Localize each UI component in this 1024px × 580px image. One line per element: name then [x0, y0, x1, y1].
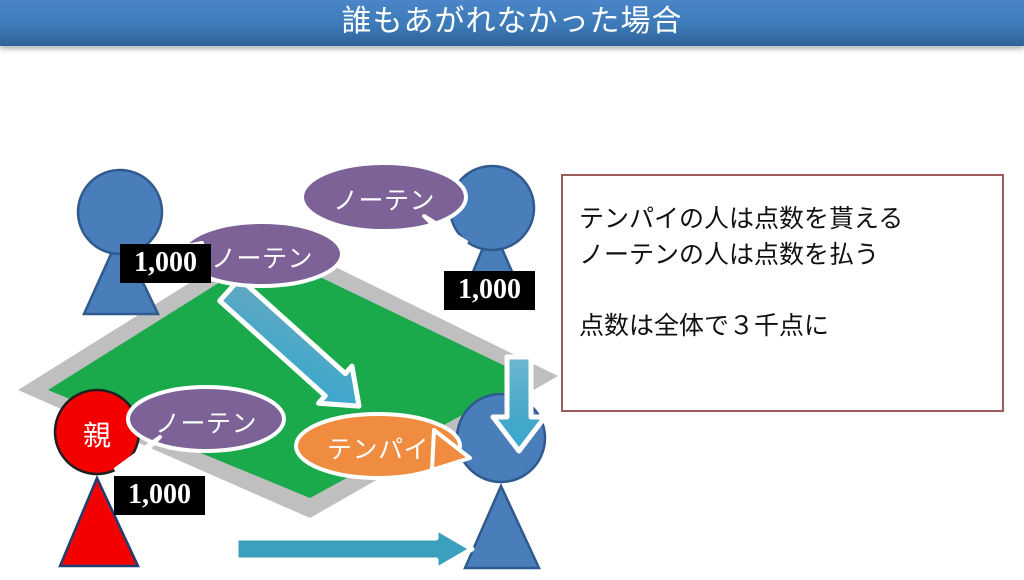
bubble-tail	[116, 437, 160, 469]
arrow-horizontal	[230, 524, 480, 580]
score-chip-bottom-left: 1,000	[114, 476, 205, 515]
arrow-vertical	[487, 351, 557, 461]
bubble-label: テンパイ	[292, 430, 464, 466]
bubble-noten-dealer[interactable]: ノーテン	[110, 379, 300, 479]
slide-title-bar: 誰もあがれなかった場合	[0, 0, 1024, 46]
page-title: 誰もあがれなかった場合	[0, 0, 1024, 46]
note-box-text: テンパイの人は点数を貰える ノーテンの人は点数を払う 点数は全体で３千点に	[579, 202, 989, 344]
bubble-label: ノーテン	[126, 404, 286, 440]
slide-canvas: 親	[0, 46, 1024, 576]
score-chip-top-right: 1,000	[444, 271, 535, 310]
arrow-shape	[493, 357, 545, 451]
score-chip-top-left: 1,000	[120, 244, 211, 283]
arrow-shape	[236, 528, 472, 570]
player-head	[78, 170, 162, 254]
bubble-tenpai[interactable]: テンパイ	[292, 386, 492, 496]
note-box: テンパイの人は点数を貰える ノーテンの人は点数を払う 点数は全体で３千点に	[561, 174, 1004, 412]
